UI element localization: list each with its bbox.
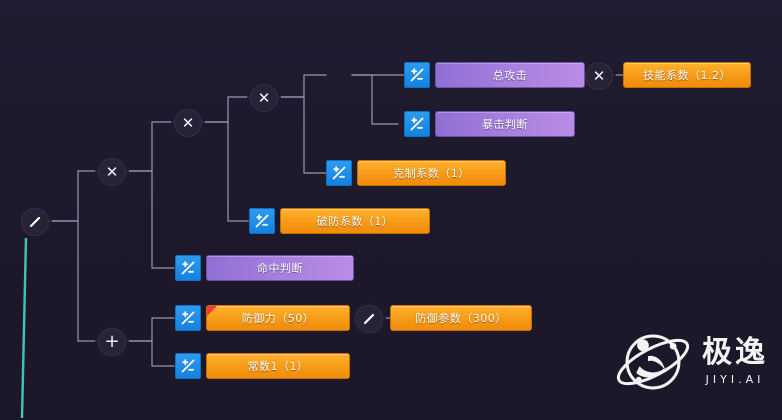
node-restraint-coefficient[interactable]: 克制系数（1） xyxy=(326,160,506,186)
watermark-logo: 极逸 JIYI.AI xyxy=(610,326,768,398)
node-label: 总攻击 xyxy=(435,62,585,88)
divide-slash-icon xyxy=(362,312,376,326)
operator-symbol: + xyxy=(104,333,119,351)
calc-icon xyxy=(404,111,430,137)
graph-canvas[interactable]: ✕ ✕ ✕ ✕ + 总攻击 技能系数（1.2） xyxy=(0,0,782,420)
operator-multiply-skill[interactable]: ✕ xyxy=(585,62,613,90)
plus-minus-glyph xyxy=(409,67,425,83)
operator-symbol: ✕ xyxy=(182,116,195,131)
node-defense-parameter[interactable]: 防御参数（300） xyxy=(390,305,532,331)
logo-cn-text: 极逸 xyxy=(702,338,768,368)
modified-flag-icon xyxy=(207,306,217,316)
plus-minus-glyph xyxy=(254,213,270,229)
operator-multiply-c[interactable]: ✕ xyxy=(250,84,278,112)
operator-root-divide[interactable] xyxy=(21,208,49,236)
node-label: 防御力（50） xyxy=(206,305,350,331)
node-break-coefficient[interactable]: 破防系数（1） xyxy=(249,208,430,234)
node-crit-judge[interactable]: 暴击判断 xyxy=(404,111,575,137)
node-label: 破防系数（1） xyxy=(280,208,430,234)
node-label: 暴击判断 xyxy=(435,111,575,137)
calc-icon xyxy=(175,305,201,331)
logo-en-text: JIYI.AI xyxy=(706,373,765,386)
operator-symbol: ✕ xyxy=(106,165,119,180)
operator-divide-defense[interactable] xyxy=(355,305,383,333)
node-label: 技能系数（1.2） xyxy=(623,62,751,88)
node-label: 防御参数（300） xyxy=(390,305,532,331)
calc-icon xyxy=(404,62,430,88)
operator-symbol: ✕ xyxy=(258,91,271,106)
plus-minus-glyph xyxy=(180,260,196,276)
node-hit-judge[interactable]: 命中判断 xyxy=(175,255,354,281)
operator-symbol: ✕ xyxy=(593,69,606,84)
logo-wordmark: 极逸 JIYI.AI xyxy=(702,338,768,386)
node-label-text: 防御力（50） xyxy=(242,310,315,326)
plus-minus-glyph xyxy=(409,116,425,132)
calc-icon xyxy=(175,255,201,281)
calc-icon xyxy=(175,353,201,379)
calc-icon xyxy=(326,160,352,186)
plus-minus-glyph xyxy=(331,165,347,181)
planet-figure-logo-icon xyxy=(610,326,696,398)
node-defense-power[interactable]: 防御力（50） xyxy=(175,305,350,331)
operator-multiply-b[interactable]: ✕ xyxy=(174,109,202,137)
divide-slash-icon xyxy=(28,215,42,229)
plus-minus-glyph xyxy=(180,310,196,326)
plus-minus-glyph xyxy=(180,358,196,374)
operator-plus[interactable]: + xyxy=(98,328,126,356)
calc-icon xyxy=(249,208,275,234)
node-skill-coefficient[interactable]: 技能系数（1.2） xyxy=(623,62,751,88)
node-constant-one[interactable]: 常数1（1） xyxy=(175,353,350,379)
teal-guide-line xyxy=(22,238,26,418)
node-label: 命中判断 xyxy=(206,255,354,281)
node-label: 克制系数（1） xyxy=(357,160,506,186)
operator-multiply-a[interactable]: ✕ xyxy=(98,158,126,186)
node-total-attack[interactable]: 总攻击 xyxy=(404,62,585,88)
node-label: 常数1（1） xyxy=(206,353,350,379)
